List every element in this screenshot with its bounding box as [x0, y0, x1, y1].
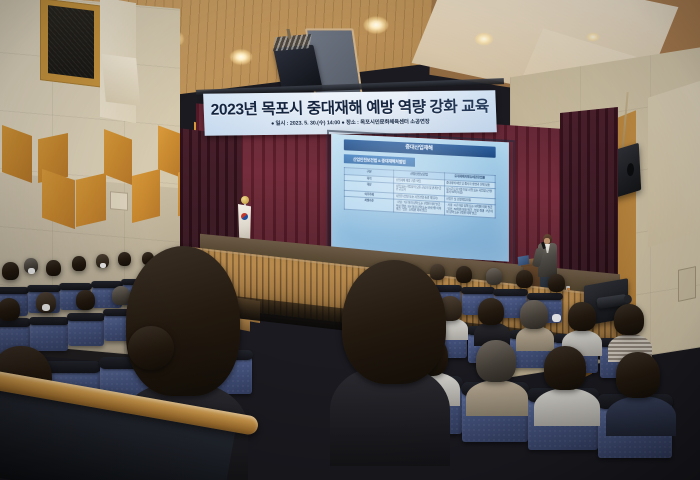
audience-shoulders	[466, 380, 528, 416]
face-mask	[42, 304, 50, 311]
right-wall-wedge	[648, 78, 700, 247]
foreground-person-head	[342, 260, 446, 384]
audience-person	[476, 340, 516, 382]
banner-title: 2023년 목포시 중대재해 예방 역량 강화 교육	[203, 94, 496, 120]
audience-person	[616, 352, 660, 398]
acoustic-chevron-panel	[132, 167, 160, 225]
audience-person	[72, 256, 86, 271]
foreground-person-ponytail	[128, 326, 174, 370]
audience-person	[544, 346, 586, 390]
audience-person	[568, 302, 596, 331]
face-mask	[552, 314, 561, 322]
audience-person	[2, 262, 19, 280]
audience-shoulders	[606, 396, 676, 436]
ceiling-downlight	[475, 33, 493, 46]
audience-person	[548, 274, 565, 292]
seat	[68, 316, 104, 346]
audience-person	[614, 304, 644, 335]
ceiling-downlight	[230, 49, 252, 64]
event-banner: 2023년 목포시 중대재해 예방 역량 강화 교육 ● 일시 : 2023. …	[203, 90, 497, 136]
auditorium-photo: 2023년 목포시 중대재해 예방 역량 강화 교육 ● 일시 : 2023. …	[0, 0, 700, 480]
audience-person	[516, 270, 533, 288]
face-mask	[28, 268, 35, 274]
wall-access-plate	[110, 191, 128, 211]
slide-cell: · 사망 : 1년 이상 징역 또는 10억원 이하 벌금 · 법인 : 50억…	[444, 202, 495, 218]
audience-person	[430, 264, 445, 280]
flag-taeguk-symbol	[241, 213, 248, 220]
seat	[30, 320, 68, 351]
acoustic-chevron-panel	[76, 171, 106, 229]
audience-person	[478, 298, 504, 325]
slide-table: 구분 산업안전보건법 중대재해처벌등에관한법률 목적 산업재해 예방 기준 확립…	[344, 167, 496, 219]
audience-shoulders	[516, 326, 554, 351]
slide-cell: · 사망 : 7년 이하 징역 또는 1억원 이하 벌금 · 부상·질병 : 5…	[394, 199, 444, 215]
projection-booth-window	[48, 5, 94, 79]
left-wall-ledge	[102, 54, 141, 106]
audience-shoulders	[534, 388, 600, 426]
foreground-person-head	[126, 246, 240, 396]
audience-person	[76, 290, 95, 310]
ceiling-downlight	[587, 33, 600, 42]
face-mask	[100, 263, 106, 268]
audience-person	[486, 268, 502, 285]
audience-person	[520, 300, 548, 329]
audience-person	[46, 260, 61, 276]
audience-person	[0, 298, 20, 321]
audience-person	[456, 266, 472, 283]
ceiling-downlight	[364, 16, 389, 33]
slide-row-label: 처벌수준	[344, 196, 394, 212]
slide-subtitle: 산업안전보건법 & 중대재해처벌법	[344, 154, 415, 167]
flag-finial	[241, 196, 249, 204]
audience-person	[118, 252, 131, 266]
